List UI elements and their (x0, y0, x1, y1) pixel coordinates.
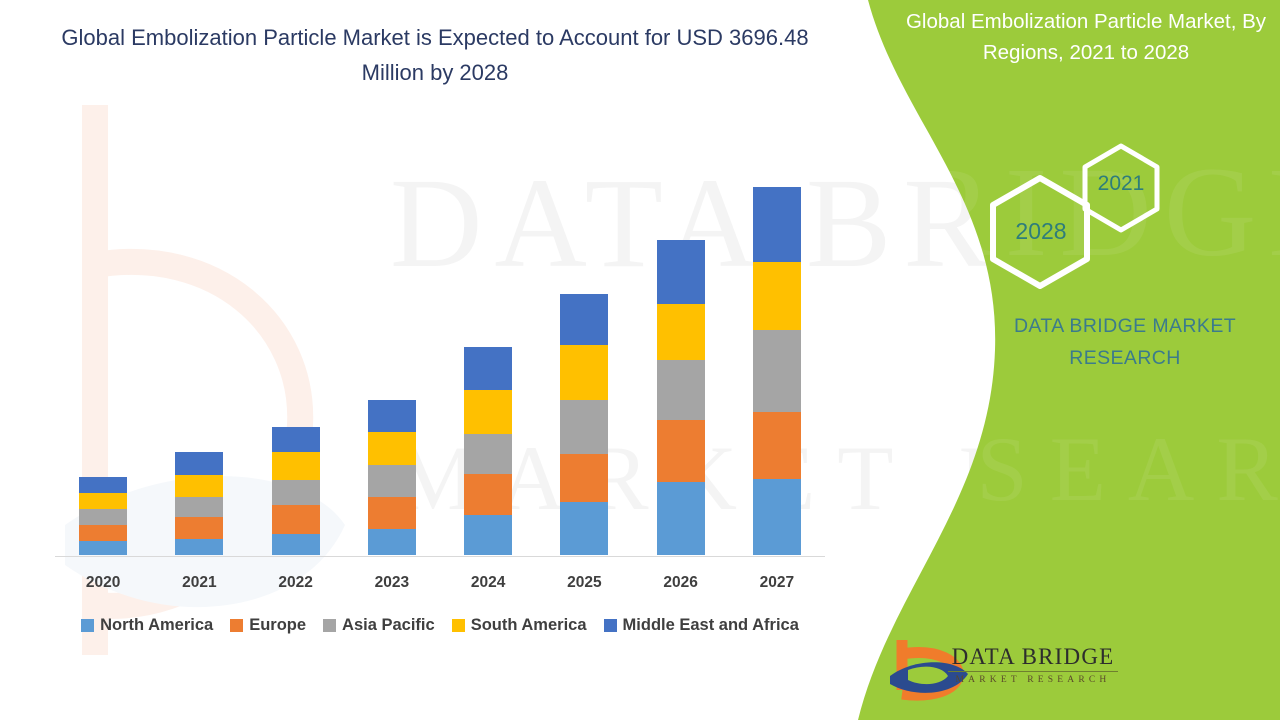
logo-wordmark: DATA BRIDGE MARKET RESEARCH (948, 644, 1118, 685)
bar-segment (657, 482, 705, 555)
bar-column (560, 294, 608, 555)
bar-segment (560, 294, 608, 345)
legend-swatch-icon (81, 619, 94, 632)
bar-segment (657, 420, 705, 482)
chart-legend: North AmericaEuropeAsia PacificSouth Ame… (40, 616, 840, 635)
legend-swatch-icon (452, 619, 465, 632)
x-axis-tick-label: 2027 (732, 574, 822, 592)
brand-name-text: DATA BRIDGE MARKET RESEARCH (960, 310, 1280, 374)
x-axis-tick-label: 2025 (539, 574, 629, 592)
bar-segment (464, 347, 512, 390)
legend-swatch-icon (604, 619, 617, 632)
logo-main-text: DATA BRIDGE (948, 644, 1118, 672)
bar-segment (368, 465, 416, 497)
legend-item[interactable]: South America (452, 616, 587, 635)
bar-segment (657, 240, 705, 304)
bar-segment (753, 412, 801, 479)
legend-label: South America (471, 616, 587, 635)
bar-segment (753, 479, 801, 555)
bar-segment (272, 534, 320, 555)
bar-segment (79, 493, 127, 509)
bar-segment (79, 509, 127, 525)
legend-item[interactable]: Europe (230, 616, 306, 635)
x-axis-tick-label: 2022 (251, 574, 341, 592)
bar-segment (175, 517, 223, 539)
bar-segment (368, 497, 416, 529)
legend-label: Asia Pacific (342, 616, 435, 635)
bar-segment (175, 475, 223, 497)
bar-segment (368, 432, 416, 465)
x-axis-tick-label: 2024 (443, 574, 533, 592)
logo-sub-text: MARKET RESEARCH (948, 675, 1118, 685)
bar-segment (753, 262, 801, 330)
bar-column (79, 477, 127, 555)
bar-segment (79, 477, 127, 493)
panel-title: Global Embolization Particle Market, By … (900, 6, 1272, 68)
bar-segment (272, 427, 320, 452)
bar-segment (368, 400, 416, 432)
bar-segment (464, 390, 512, 434)
bar-column (272, 427, 320, 555)
bar-segment (175, 497, 223, 517)
bar-segment (272, 480, 320, 505)
bar-segment (464, 515, 512, 555)
x-axis-tick-label: 2020 (58, 574, 148, 592)
hexagon-2028-label: 2028 (993, 218, 1089, 245)
x-axis-labels: 20202021202220232024202520262027 (55, 574, 825, 598)
bar-segment (79, 541, 127, 555)
legend-item[interactable]: North America (81, 616, 213, 635)
legend-swatch-icon (323, 619, 336, 632)
bar-segment (560, 400, 608, 454)
hexagon-2021-label: 2021 (1081, 172, 1161, 196)
x-axis-line (55, 556, 825, 557)
legend-item[interactable]: Middle East and Africa (604, 616, 799, 635)
bar-segment (272, 505, 320, 534)
legend-label: North America (100, 616, 213, 635)
legend-swatch-icon (230, 619, 243, 632)
bar-segment (79, 525, 127, 541)
stacked-bar-chart-plot (55, 100, 825, 555)
bar-segment (560, 454, 608, 502)
x-axis-tick-label: 2021 (154, 574, 244, 592)
bar-column (753, 187, 801, 555)
legend-label: Middle East and Africa (623, 616, 799, 635)
bar-segment (560, 502, 608, 555)
bar-segment (272, 452, 320, 480)
svg-text:RESEARCH: RESEARCH (840, 418, 1280, 520)
infographic-root: DATA BRIDGE MARKET RESEARCH Global Embol… (0, 0, 1280, 720)
bar-column (368, 400, 416, 555)
chart-title: Global Embolization Particle Market is E… (40, 20, 830, 90)
x-axis-tick-label: 2026 (636, 574, 726, 592)
bar-column (657, 240, 705, 555)
bar-segment (368, 529, 416, 555)
x-axis-tick-label: 2023 (347, 574, 437, 592)
bar-segment (753, 330, 801, 412)
hexagon-group: 2021 2028 (985, 140, 1205, 290)
bar-segment (753, 187, 801, 262)
bar-segment (657, 304, 705, 360)
bar-segment (657, 360, 705, 420)
bar-segment (175, 539, 223, 555)
bar-column (464, 347, 512, 555)
bar-column (175, 452, 223, 555)
bar-segment (175, 452, 223, 475)
bar-segment (464, 474, 512, 515)
bar-segment (464, 434, 512, 474)
legend-item[interactable]: Asia Pacific (323, 616, 435, 635)
legend-label: Europe (249, 616, 306, 635)
bar-segment (560, 345, 608, 400)
